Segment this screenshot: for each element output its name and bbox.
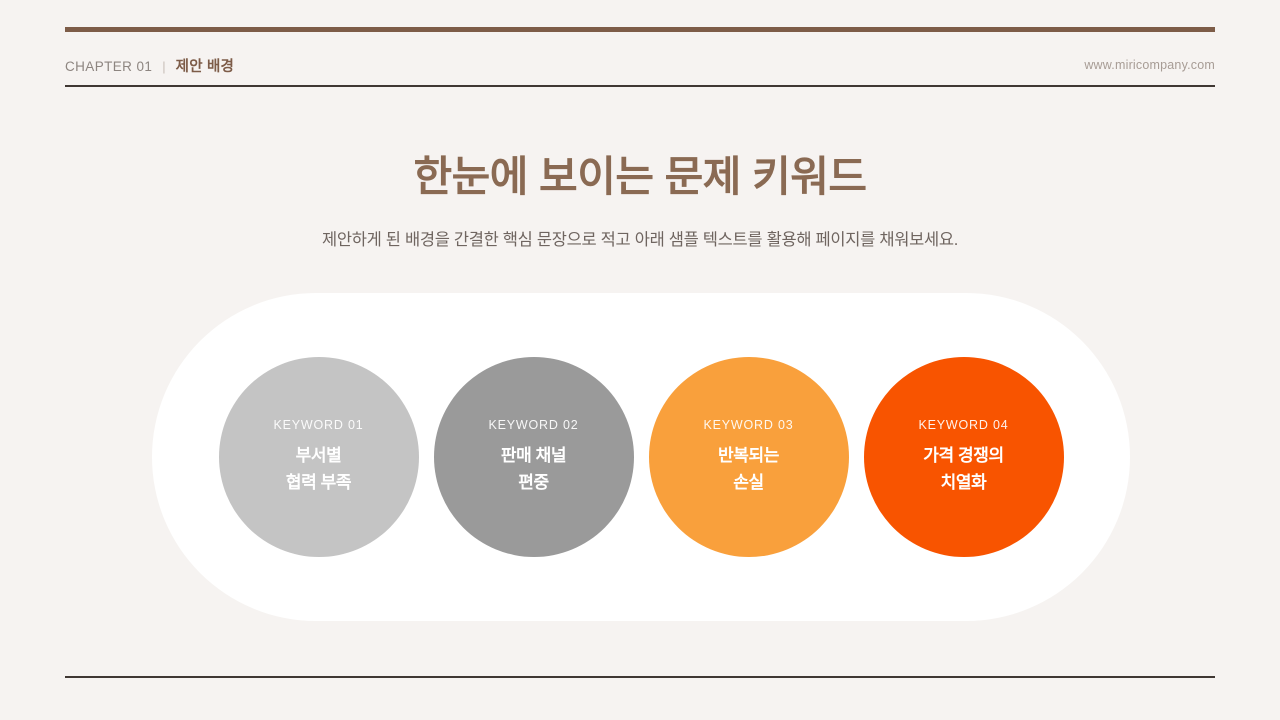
page-subtitle: 제안하게 된 배경을 간결한 핵심 문장으로 적고 아래 샘플 텍스트를 활용해…: [0, 226, 1280, 250]
slide-canvas: CHAPTER 01 | 제안 배경 www.miricompany.com 한…: [0, 0, 1280, 720]
keyword-circle-4[interactable]: KEYWORD 04 가격 경쟁의 치열화: [864, 357, 1064, 557]
keyword-text-3: 반복되는 손실: [718, 443, 779, 496]
slide-header: CHAPTER 01 | 제안 배경 www.miricompany.com: [65, 50, 1215, 80]
top-accent-rule: [65, 27, 1215, 32]
keyword-text-1: 부서별 협력 부족: [286, 443, 351, 496]
keyword-label-2: KEYWORD 02: [489, 418, 579, 432]
page-title: 한눈에 보이는 문제 키워드: [0, 152, 1280, 202]
keyword-label-3: KEYWORD 03: [704, 418, 794, 432]
keyword-label-1: KEYWORD 01: [274, 418, 364, 432]
keyword-label-4: KEYWORD 04: [919, 418, 1009, 432]
keyword-circle-2[interactable]: KEYWORD 02 판매 채널 편중: [434, 357, 634, 557]
keyword-circle-1[interactable]: KEYWORD 01 부서별 협력 부족: [219, 357, 419, 557]
breadcrumb: CHAPTER 01 | 제안 배경: [65, 55, 234, 76]
keyword-circle-3[interactable]: KEYWORD 03 반복되는 손실: [649, 357, 849, 557]
header-divider: [65, 85, 1215, 87]
chapter-title: 제안 배경: [176, 55, 234, 76]
keyword-text-4: 가격 경쟁의 치열화: [923, 443, 1004, 496]
keyword-text-2: 판매 채널 편중: [501, 443, 566, 496]
chapter-number: CHAPTER 01: [65, 59, 152, 74]
breadcrumb-separator: |: [162, 59, 165, 74]
footer-divider: [65, 676, 1215, 678]
site-url: www.miricompany.com: [1084, 58, 1215, 72]
keyword-circle-row: KEYWORD 01 부서별 협력 부족 KEYWORD 02 판매 채널 편중…: [152, 293, 1130, 621]
